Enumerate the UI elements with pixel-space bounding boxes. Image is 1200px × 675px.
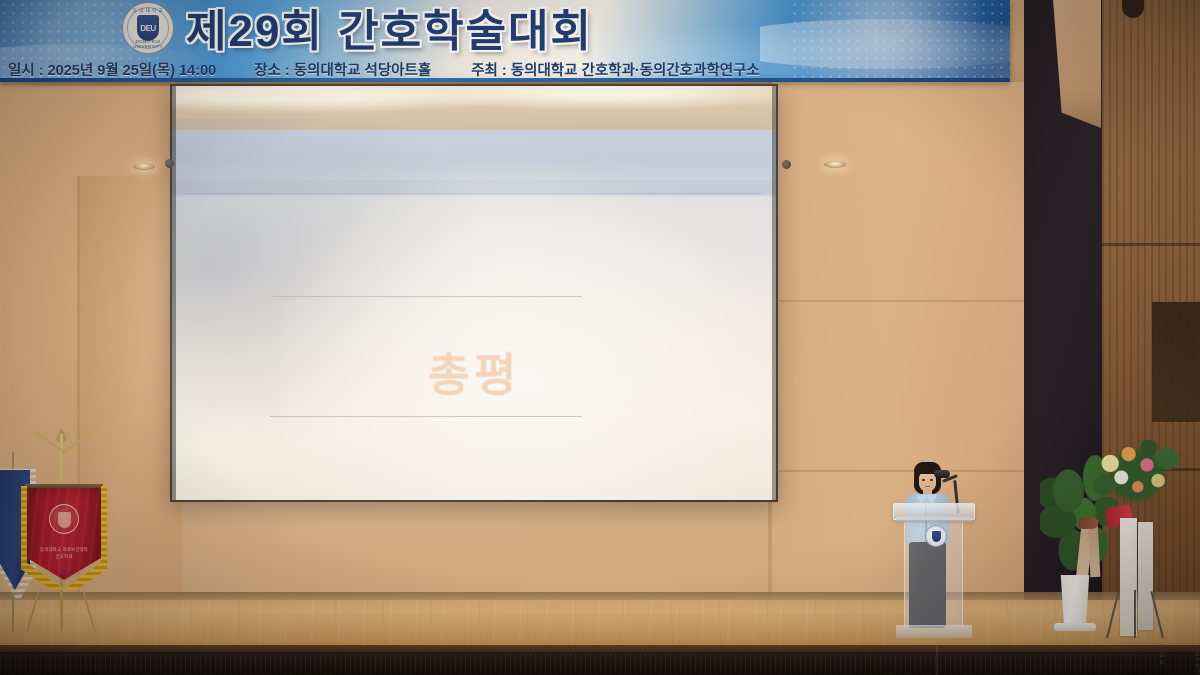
screen-projector-glow (281, 161, 776, 500)
crest-bottom-text: DONG-EUI UNIVERSITY (123, 39, 173, 49)
wreath-ribbon-text-2: 간호학술대회 (1189, 612, 1200, 675)
flag-crest-shield (58, 512, 71, 528)
lectern-podium (893, 503, 975, 638)
speaker-mouth (925, 486, 930, 487)
podium-base (896, 625, 972, 638)
banner-main-title: 제29회 간호학술대회 (186, 0, 866, 56)
plant-pot (1058, 575, 1092, 627)
congratulatory-flower-wreath: 제 29 회 간호학술대회 (1090, 440, 1182, 640)
wreath-leg-center (1134, 590, 1136, 638)
screen-mount-knob-right (782, 160, 791, 169)
wreath-tripod-stand (1102, 590, 1168, 638)
screen-left-edge (172, 86, 176, 500)
speaker-eye-right (930, 479, 933, 481)
ceiling-downlight-right (824, 161, 846, 168)
flag-crest-icon (49, 504, 79, 534)
crest-top-text: 동 의 대 학 교 (123, 8, 173, 14)
stage-photo: 동 의 대 학 교 DEU DONG-EUI UNIVERSITY 제29회 간… (0, 0, 1200, 675)
stage-apron-vents (0, 654, 1200, 673)
flag-text-line-2: 간호학과 (28, 553, 100, 560)
podium-lip (896, 517, 972, 522)
ceiling-downlight-left (133, 163, 155, 170)
slide-rule-bottom (270, 416, 582, 417)
podium-crest-shield (932, 531, 941, 542)
wreath-leg-right (1150, 591, 1164, 638)
flag-tripod-stand (22, 590, 102, 632)
tripod-leg-right (82, 591, 95, 632)
wall-recess-dark (1152, 302, 1200, 422)
wood-panel-seam-upper (1102, 243, 1200, 246)
flag-text-line-1: 동의대학교 의료보건대학 (28, 546, 100, 553)
screen-mount-knob-left (165, 159, 174, 168)
banner-host-info: 주최 : 동의대학교 간호학과·동의간호과학연구소 (471, 59, 760, 80)
speaker-trouser-seam (936, 646, 938, 675)
event-banner: 동 의 대 학 교 DEU DONG-EUI UNIVERSITY 제29회 간… (0, 0, 1010, 82)
speaker-eye-left (922, 479, 925, 481)
screen-right-edge (772, 86, 776, 500)
flag-department-text: 동의대학교 의료보건대학 간호학과 (28, 546, 100, 560)
banner-bottom-edge (0, 78, 1010, 82)
slide-headline: 총평 (172, 339, 776, 405)
slide-rule-top (272, 296, 582, 297)
projection-screen: 총평 (172, 86, 776, 500)
podium-crest-icon (925, 525, 947, 547)
tripod-leg-left (26, 591, 39, 632)
right-wall-panel-line (770, 300, 1060, 302)
banner-venue-info: 장소 : 동의대학교 석당아트홀 (254, 59, 431, 80)
tripod-leg-center (60, 590, 62, 632)
university-crest-icon: 동 의 대 학 교 DEU DONG-EUI UNIVERSITY (122, 2, 174, 54)
projection-screen-frame: 총평 (170, 84, 778, 502)
wreath-flower-head (1090, 440, 1182, 518)
wreath-leg-left (1106, 591, 1120, 638)
banner-date-info: 일시 : 2025년 9월 25일(목) 14:00 (8, 59, 216, 80)
